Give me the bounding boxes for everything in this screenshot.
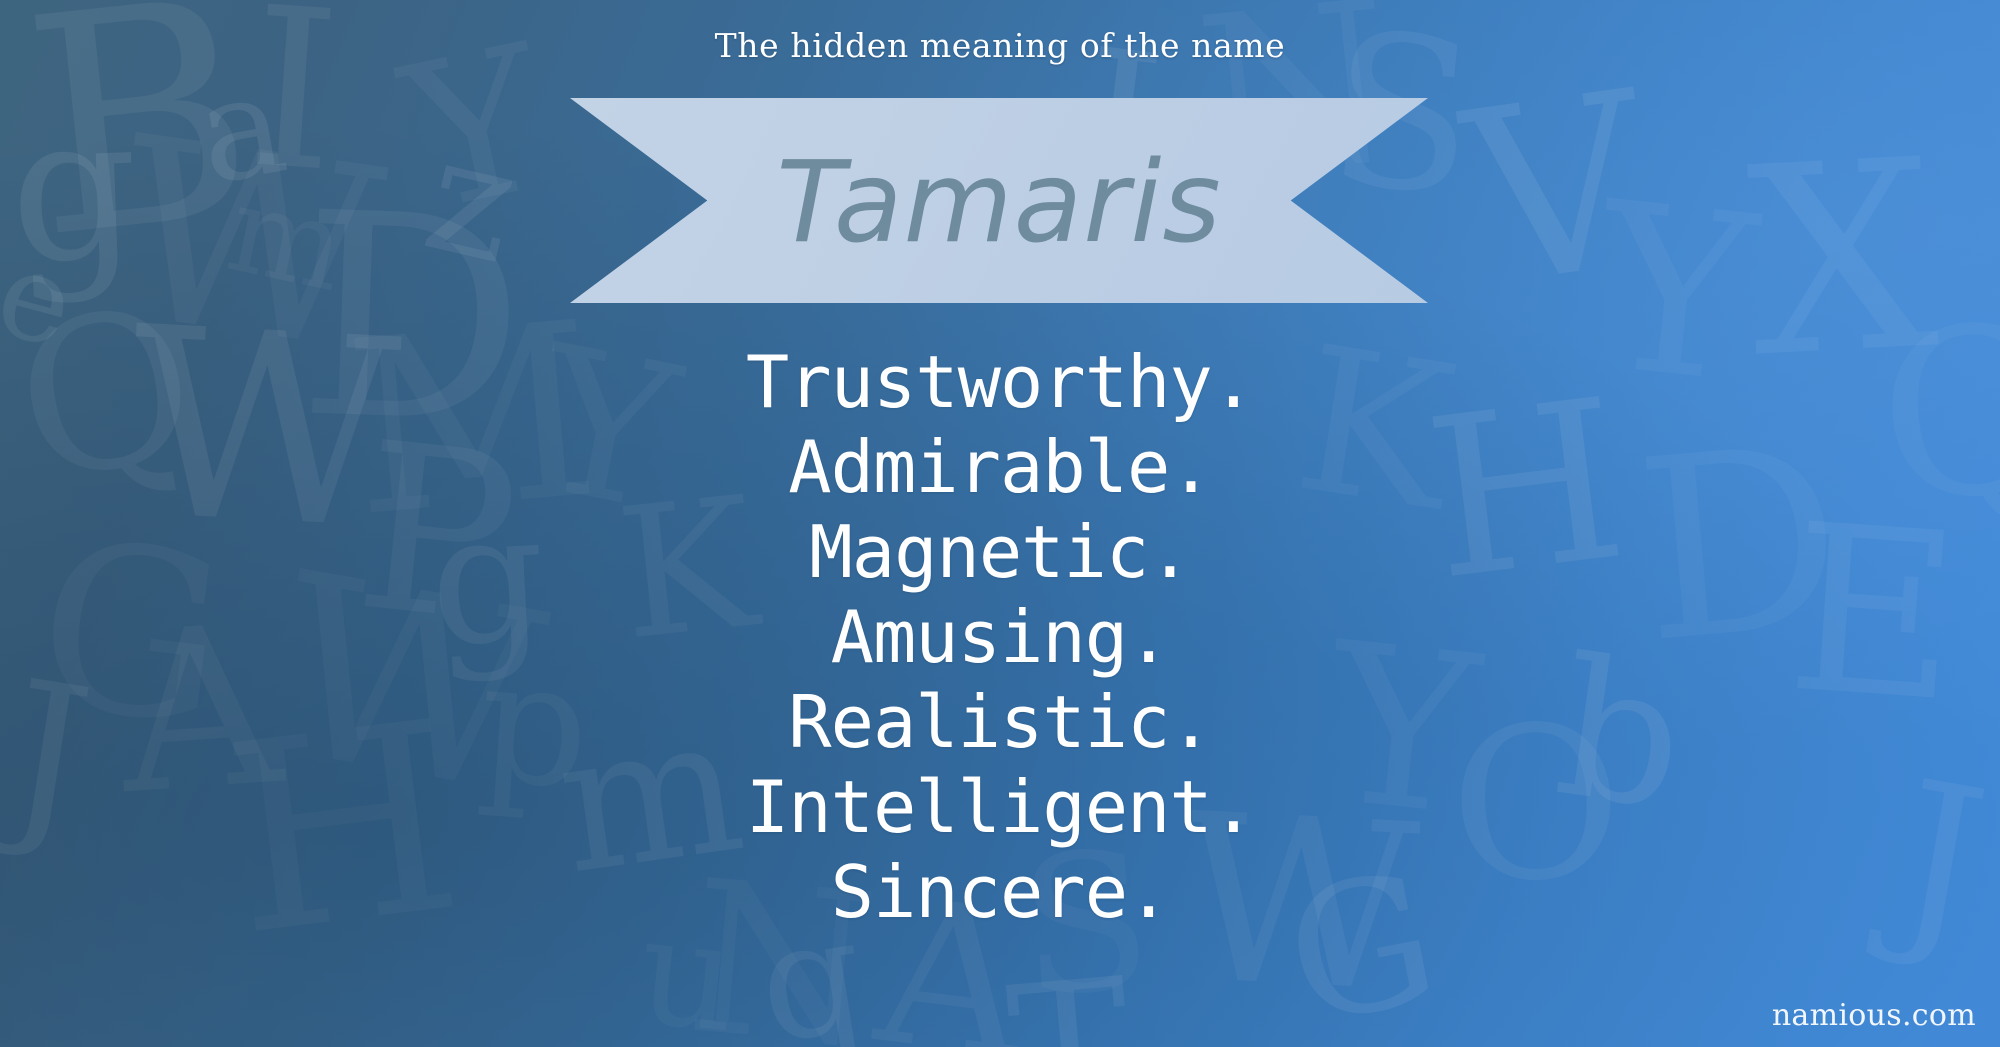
trait-item: Intelligent. [0, 765, 2000, 850]
name-ribbon-banner: Tamaris [570, 98, 1428, 303]
site-watermark: namious.com [1772, 998, 1976, 1033]
texture-glyph: g [7, 88, 142, 292]
name-text: Tamaris [776, 147, 1222, 259]
texture-glyph: V [1454, 59, 1659, 321]
trait-item: Realistic. [0, 680, 2000, 765]
texture-glyph: z [413, 113, 531, 288]
texture-glyph: T [1002, 955, 1137, 1047]
trait-item: Amusing. [0, 595, 2000, 680]
ribbon-inner: Tamaris [570, 98, 1428, 303]
trait-item: Sincere. [0, 850, 2000, 935]
trait-item: Magnetic. [0, 510, 2000, 595]
texture-glyph: a [188, 54, 295, 206]
trait-list: Trustworthy. Admirable. Magnetic. Amusin… [0, 340, 2000, 935]
page-title: The hidden meaning of the name [0, 26, 2000, 65]
trait-item: Admirable. [0, 425, 2000, 510]
trait-item: Trustworthy. [0, 340, 2000, 425]
texture-glyph: m [219, 169, 355, 310]
name-meaning-poster: BWgmIQWGAJHeDYPgWMpmYKNqASWGYObDEHKXYVSN… [0, 0, 2000, 1047]
